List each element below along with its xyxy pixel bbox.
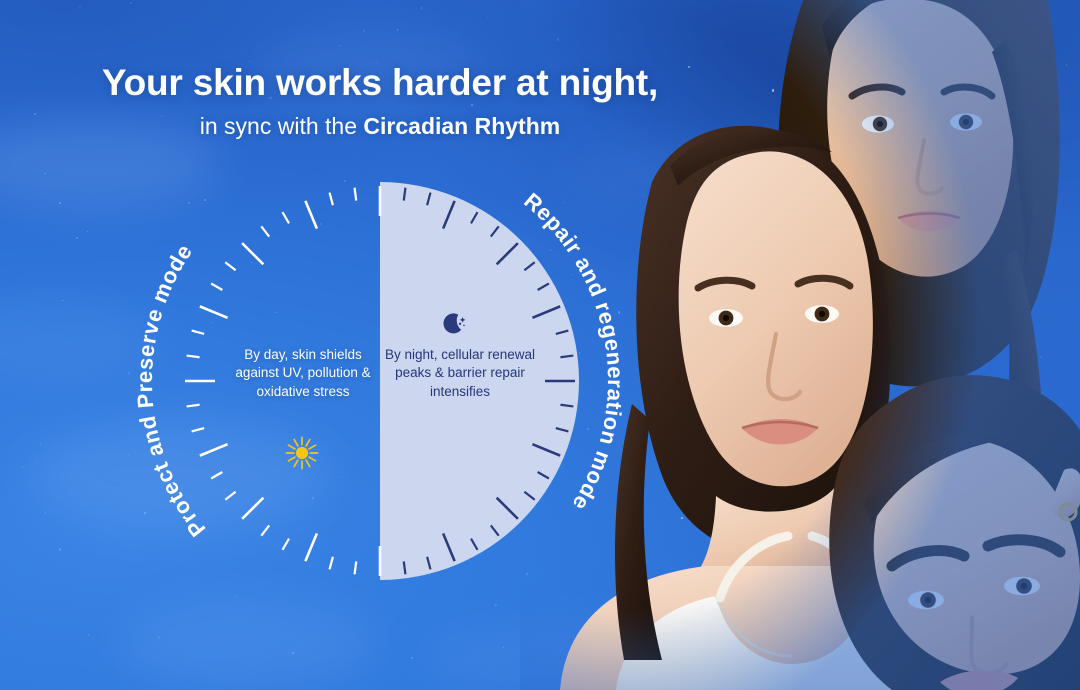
day-tick — [211, 284, 222, 291]
star-icon — [154, 569, 155, 570]
day-tick — [192, 331, 205, 334]
star-icon — [22, 466, 24, 468]
day-tick — [225, 492, 235, 500]
subtitle-prefix: in sync with the — [200, 113, 364, 139]
star-icon — [503, 647, 504, 648]
star-icon — [88, 634, 89, 635]
day-tick — [283, 539, 290, 550]
star-icon — [421, 7, 423, 9]
moon-icon — [437, 307, 471, 341]
star-icon — [86, 621, 87, 622]
page-title: Your skin works harder at night, — [0, 62, 760, 103]
star-icon — [62, 300, 64, 302]
star-icon — [363, 30, 365, 32]
star-icon — [67, 405, 68, 406]
subtitle-emphasis: Circadian Rhythm — [363, 113, 560, 139]
day-tick — [330, 193, 333, 206]
day-tick — [187, 405, 200, 407]
day-tick — [305, 533, 316, 561]
star-icon — [87, 231, 88, 232]
day-tick — [211, 472, 222, 479]
star-icon — [59, 202, 61, 204]
promo-banner: Your skin works harder at night, in sync… — [0, 0, 1080, 690]
star-icon — [397, 29, 398, 30]
headline-block: Your skin works harder at night, in sync… — [0, 62, 760, 140]
star-icon — [40, 443, 41, 444]
star-icon — [128, 372, 130, 374]
day-tick — [355, 188, 357, 201]
star-icon — [455, 34, 457, 36]
star-icon — [487, 16, 488, 17]
day-tick — [200, 306, 228, 317]
star-icon — [128, 455, 129, 456]
day-tick — [225, 262, 235, 270]
day-tick — [261, 226, 269, 236]
star-icon — [154, 656, 155, 657]
star-icon — [339, 45, 340, 46]
day-tick — [283, 212, 290, 223]
star-icon — [79, 6, 81, 8]
day-tick — [330, 557, 333, 570]
day-tick — [187, 356, 200, 358]
day-tick — [242, 498, 263, 519]
day-tick — [192, 428, 205, 431]
day-tick — [355, 561, 357, 574]
star-icon — [76, 237, 78, 239]
star-icon — [45, 512, 47, 514]
day-tick — [305, 201, 316, 229]
star-icon — [292, 652, 294, 654]
star-icon — [411, 657, 413, 659]
day-panel-text: By day, skin shields against UV, polluti… — [228, 346, 378, 401]
page-subtitle: in sync with the Circadian Rhythm — [0, 113, 760, 140]
star-icon — [130, 2, 132, 4]
star-icon — [121, 300, 122, 301]
day-tick — [261, 525, 269, 535]
night-panel-text: By night, cellular renewal peaks & barri… — [384, 346, 536, 401]
sun-icon — [285, 436, 319, 470]
star-icon — [158, 636, 160, 638]
star-icon — [144, 512, 146, 514]
star-icon — [494, 604, 496, 606]
day-tick — [200, 444, 228, 455]
star-icon — [59, 548, 61, 550]
day-tick — [242, 243, 263, 264]
star-icon — [234, 596, 235, 597]
star-icon — [36, 461, 37, 462]
star-icon — [44, 173, 45, 174]
